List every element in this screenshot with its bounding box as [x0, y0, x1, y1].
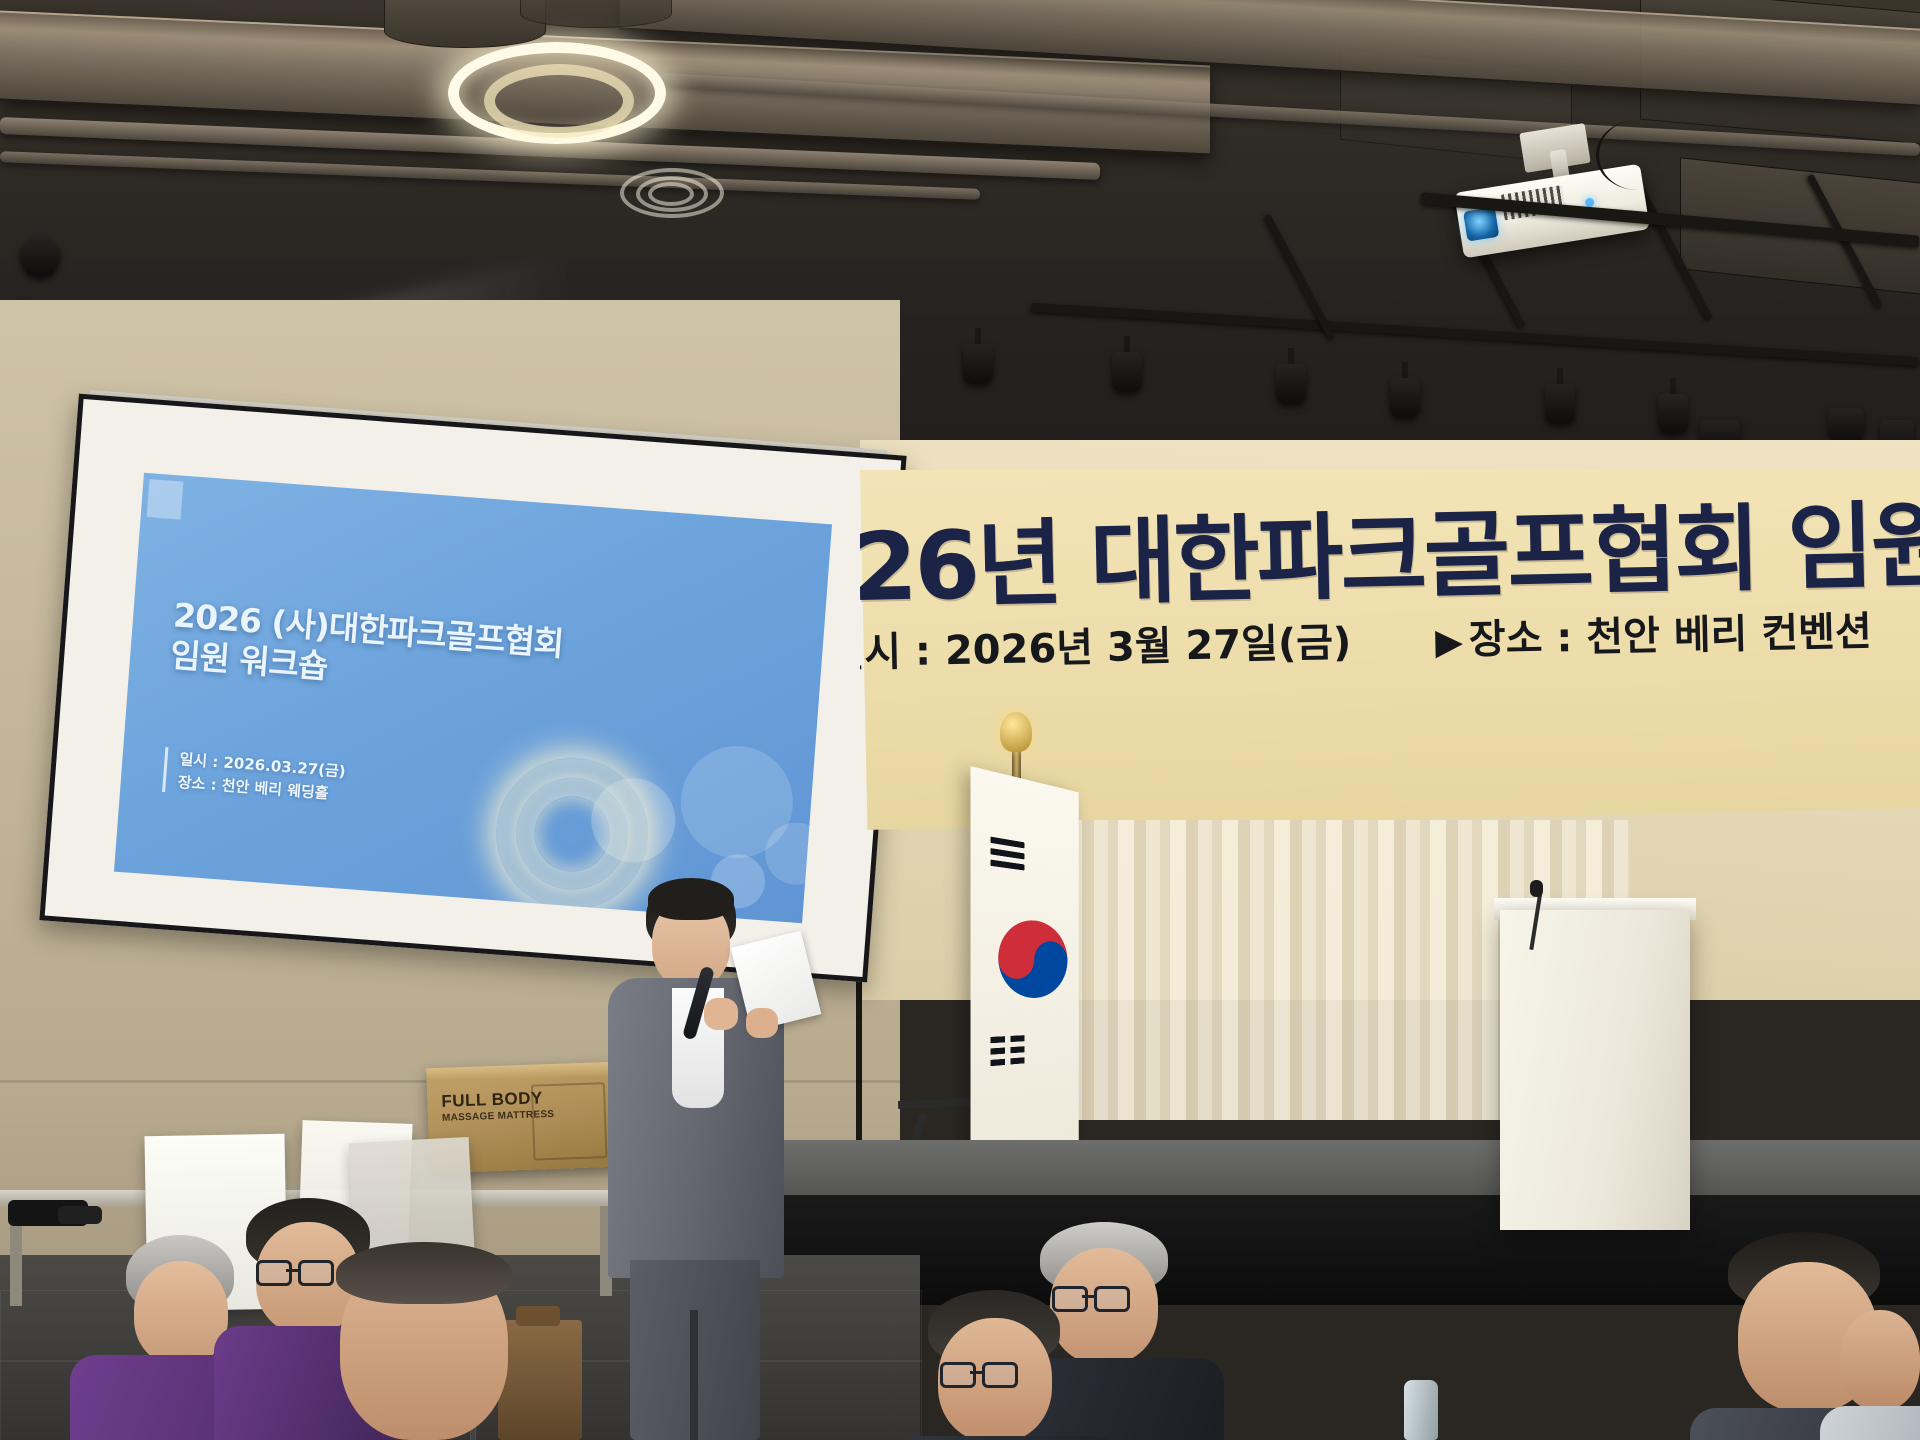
banner-place-group: ▶장소 : 천안 베리 컨벤션 — [1435, 599, 1873, 666]
slide-details: 일시 : 2026.03.27(금) 장소 : 천안 베리 웨딩홀 — [162, 747, 346, 805]
photo-scene: 2026 (사)대한파크골프협회 임원 워크숍 일시 : 2026.03.27(… — [0, 0, 1920, 1440]
audience-hair — [336, 1242, 512, 1304]
cable-on-table — [58, 1206, 102, 1224]
slide-title: 2026 (사)대한파크골프협회 임원 워크숍 — [169, 595, 565, 705]
ring-light-inner-c — [648, 182, 694, 206]
glasses-lens-right — [982, 1362, 1018, 1388]
glasses-bridge — [286, 1269, 298, 1272]
audience-torso — [890, 1436, 1120, 1440]
projector-lens — [1463, 207, 1499, 242]
box-product-illustration — [531, 1082, 608, 1161]
speaker-hand — [746, 1008, 778, 1038]
banner-place-label: 장소 : 천안 베리 컨벤션 — [1468, 609, 1872, 663]
pendant-ring-light — [430, 20, 770, 210]
flag-finial-icon — [1000, 712, 1032, 752]
ceiling-cylinder-duct — [520, 0, 672, 28]
slide-content: 2026 (사)대한파크골프협회 임원 워크숍 일시 : 2026.03.27(… — [114, 473, 832, 924]
box-brand-text: FULL BODY — [441, 1088, 543, 1112]
glasses-lens-right — [298, 1260, 334, 1286]
audience-head — [1840, 1310, 1920, 1410]
audience-torso — [1820, 1406, 1920, 1440]
glasses-bridge — [1082, 1295, 1094, 1298]
podium-microphone-head-icon — [1530, 880, 1543, 897]
taeguk-symbol-icon — [998, 918, 1067, 999]
glasses-lens-left — [1052, 1286, 1088, 1312]
trigram-geon-icon — [990, 831, 1024, 875]
banner-date-group: ▶일시 : 2026년 3월 27일(금) — [860, 610, 1352, 680]
banner-date-label: 일시 : 2026년 3월 27일(금) — [860, 620, 1352, 677]
glasses-lens-left — [256, 1260, 292, 1286]
glasses-lens-left — [940, 1362, 976, 1388]
ring-light-mid — [484, 64, 634, 138]
glasses-lens-right — [1094, 1286, 1130, 1312]
speaker-hand — [704, 998, 738, 1030]
speaker-hair-top — [648, 878, 734, 920]
projector-cable — [1596, 120, 1679, 190]
glasses-bridge — [970, 1371, 982, 1374]
triangle-marker-icon: ▶ — [1435, 621, 1464, 663]
audience-group — [0, 1180, 1920, 1440]
trigram-gon-icon — [990, 1030, 1024, 1071]
water-bottle — [1404, 1380, 1438, 1440]
slide-corner-accent — [147, 479, 184, 519]
